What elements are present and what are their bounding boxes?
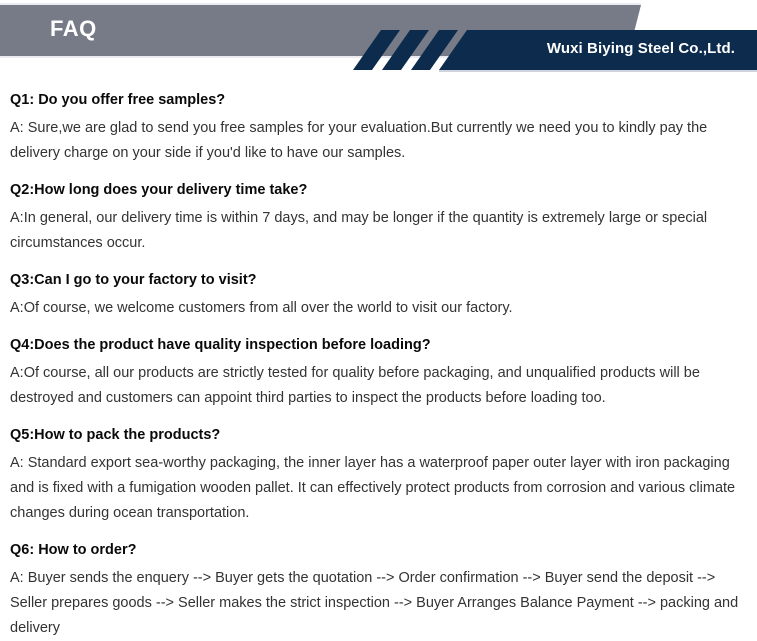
company-name: Wuxi Biying Steel Co.,Ltd. <box>547 39 735 59</box>
faq-question: Q1: Do you offer free samples? <box>10 90 745 111</box>
page-title: FAQ <box>50 16 97 42</box>
faq-question: Q5:How to pack the products? <box>10 425 745 446</box>
faq-item: Q6: How to order? A: Buyer sends the enq… <box>10 540 745 641</box>
faq-answer: A: Buyer sends the enquery --> Buyer get… <box>10 566 745 641</box>
faq-answer: A:Of course, all our products are strict… <box>10 361 745 411</box>
faq-answer: A: Standard export sea-worthy packaging,… <box>10 451 745 526</box>
faq-question: Q3:Can I go to your factory to visit? <box>10 270 745 291</box>
page-header-banner: FAQ Wuxi Biying Steel Co.,Ltd. <box>0 0 757 80</box>
faq-question: Q2:How long does your delivery time take… <box>10 180 745 201</box>
faq-list: Q1: Do you offer free samples? A: Sure,w… <box>0 80 757 641</box>
faq-answer: A:Of course, we welcome customers from a… <box>10 296 745 321</box>
faq-item: Q2:How long does your delivery time take… <box>10 180 745 256</box>
faq-answer: A:In general, our delivery time is withi… <box>10 206 745 256</box>
faq-answer: A: Sure,we are glad to send you free sam… <box>10 116 745 166</box>
faq-item: Q4:Does the product have quality inspect… <box>10 335 745 411</box>
faq-question: Q6: How to order? <box>10 540 745 561</box>
navy-band-bottom-hairline <box>439 70 757 72</box>
faq-item: Q1: Do you offer free samples? A: Sure,w… <box>10 90 745 166</box>
faq-item: Q3:Can I go to your factory to visit? A:… <box>10 270 745 321</box>
faq-item: Q5:How to pack the products? A: Standard… <box>10 425 745 526</box>
gray-band-top-hairline <box>0 3 641 5</box>
faq-question: Q4:Does the product have quality inspect… <box>10 335 745 356</box>
